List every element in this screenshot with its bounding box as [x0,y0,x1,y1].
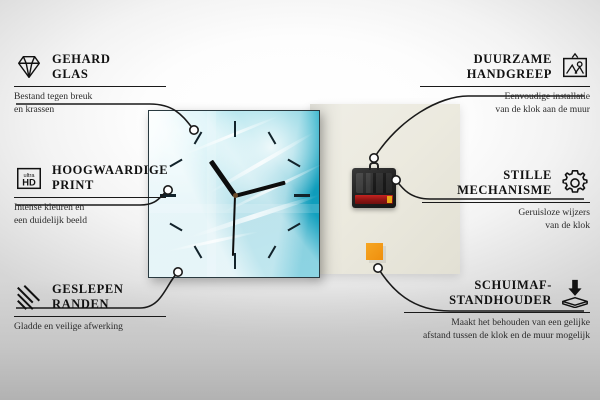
feature-header: ultra HD HOOGWAARDIGE PRINT [14,163,166,193]
feature-schuimafstandhouder: SCHUIMAF- STANDHOUDER Maakt het behouden… [404,278,590,342]
feature-description: Maakt het behouden van een gelijke afsta… [404,317,590,342]
feature-title-line1: GESLEPEN [52,282,124,297]
feature-divider [420,86,590,87]
feature-desc-line2: en krassen [14,104,166,117]
feature-title-line1: HOOGWAARDIGE [52,163,168,178]
foam-spacer-image [366,243,383,260]
feature-header: DUURZAME HANDGREEP [420,52,590,82]
feature-title-line2: PRINT [52,178,168,193]
feature-geslepen-randen: GESLEPEN RANDEN Gladde en veilige afwerk… [14,282,166,334]
infographic-canvas: GEHARD GLAS Bestand tegen breuk en krass… [0,0,600,400]
gear-icon [560,168,590,198]
glass-reflection-vertical [207,111,216,277]
feature-title: STILLE MECHANISME [457,168,552,198]
feature-divider [14,86,166,87]
feature-title-line1: STILLE [457,168,552,183]
feature-hoogwaardige-print: ultra HD HOOGWAARDIGE PRINT Intense kleu… [14,163,166,227]
feature-divider [422,202,590,203]
feature-desc-line1: Intense kleuren en [14,202,166,215]
feature-divider [14,316,166,317]
feature-description: Intense kleuren en een duidelijk beeld [14,202,166,227]
battery [355,195,393,204]
mechanism-hanger [369,162,379,170]
feature-title: DUURZAME HANDGREEP [467,52,552,82]
clock-tick-10 [169,159,182,168]
feature-header: GEHARD GLAS [14,52,166,82]
feature-title: HOOGWAARDIGE PRINT [52,163,168,193]
clock-hand-cap [233,193,238,198]
glass-clock-face [148,110,320,278]
ultra-hd-icon-bottom-text: HD [22,178,36,188]
clock-tick-1 [268,131,277,144]
feature-header: SCHUIMAF- STANDHOUDER [404,278,590,308]
feature-desc-line2: afstand tussen de klok en de muur mogeli… [404,330,590,343]
clock-tick-5 [268,245,277,258]
feature-title-line2: HANDGREEP [467,67,552,82]
feature-desc-line2: een duidelijk beeld [14,215,166,228]
feature-header: STILLE MECHANISME [422,168,590,198]
feature-title-line2: RANDEN [52,297,124,312]
feature-desc-line1: Eenvoudige installatie [420,91,590,104]
feature-gehard-glas: GEHARD GLAS Bestand tegen breuk en krass… [14,52,166,116]
feature-description: Gladde en veilige afwerking [14,321,166,334]
feature-title: GEHARD GLAS [52,52,110,82]
feature-desc-line1: Maakt het behouden van een gelijke [404,317,590,330]
feature-description: Geruisloze wijzers van de klok [422,207,590,232]
feature-desc-line1: Gladde en veilige afwerking [14,321,166,334]
feature-stille-mechanisme: STILLE MECHANISME Geruisloze wijzers van… [422,168,590,232]
clock-tick-6 [234,253,236,269]
feature-title: SCHUIMAF- STANDHOUDER [449,278,552,308]
feature-title-line2: MECHANISME [457,183,552,198]
feature-description: Bestand tegen breuk en krassen [14,91,166,116]
clock-tick-7 [194,245,203,258]
clock-tick-3 [294,194,310,197]
mechanism-body-detail [356,173,392,193]
clock-tick-11 [194,131,203,144]
beveled-edges-icon [14,282,44,312]
feature-description: Eenvoudige installatie van de klok aan d… [420,91,590,116]
feature-title-line1: DUURZAME [467,52,552,67]
feature-divider [14,197,166,198]
clock-mechanism-image [352,168,396,208]
feature-duurzame-handgreep: DUURZAME HANDGREEP Eenvoudige installati… [420,52,590,116]
feature-title-line2: GLAS [52,67,110,82]
clock-tick-4 [287,223,300,232]
feature-title-line2: STANDHOUDER [449,293,552,308]
feature-desc-line1: Geruisloze wijzers [422,207,590,220]
ultra-hd-icon: ultra HD [14,163,44,193]
feature-title: GESLEPEN RANDEN [52,282,124,312]
diamond-icon [14,52,44,82]
feature-header: GESLEPEN RANDEN [14,282,166,312]
clock-tick-12 [234,121,236,137]
picture-frame-icon [560,52,590,82]
feature-desc-line2: van de klok [422,220,590,233]
feature-title-line1: GEHARD [52,52,110,67]
clock-tick-2 [287,159,300,168]
feature-desc-line2: van de klok aan de muur [420,104,590,117]
clock-tick-8 [169,223,182,232]
feature-desc-line1: Bestand tegen breuk [14,91,166,104]
spacer-press-icon [560,278,590,308]
feature-title-line1: SCHUIMAF- [449,278,552,293]
feature-divider [404,312,590,313]
